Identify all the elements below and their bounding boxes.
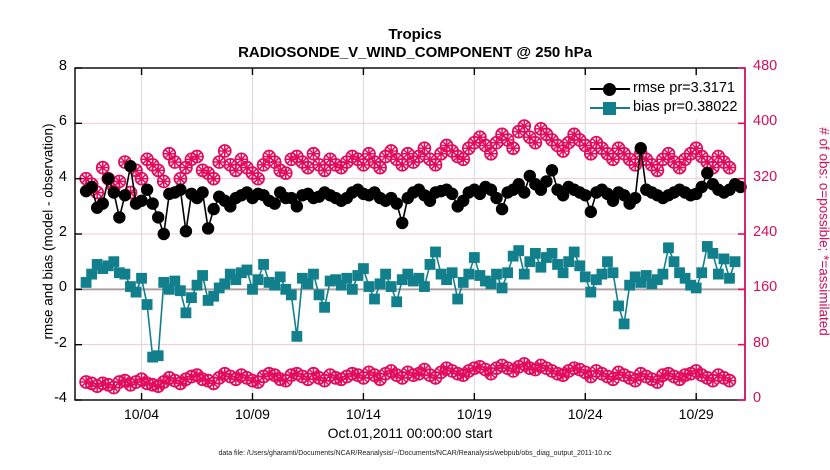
legend-label: bias pr=0.38022 — [633, 98, 737, 117]
legend-entry-bias[interactable]: bias pr=0.38022 — [590, 98, 737, 117]
circle-marker-icon — [590, 81, 630, 97]
legend-label: rmse pr=3.3171 — [633, 79, 735, 98]
chart-figure: Tropics RADIOSONDE_V_WIND_COMPONENT @ 25… — [0, 0, 830, 470]
obs-series — [80, 358, 735, 394]
data-file-caption: data file: /Users/gharamti/Documents/NCA… — [0, 450, 830, 457]
chart-legend[interactable]: rmse pr=3.3171bias pr=0.38022 — [586, 77, 741, 119]
plot-canvas — [0, 0, 830, 470]
square-marker-icon — [590, 100, 630, 116]
legend-entry-rmse[interactable]: rmse pr=3.3171 — [590, 79, 737, 98]
